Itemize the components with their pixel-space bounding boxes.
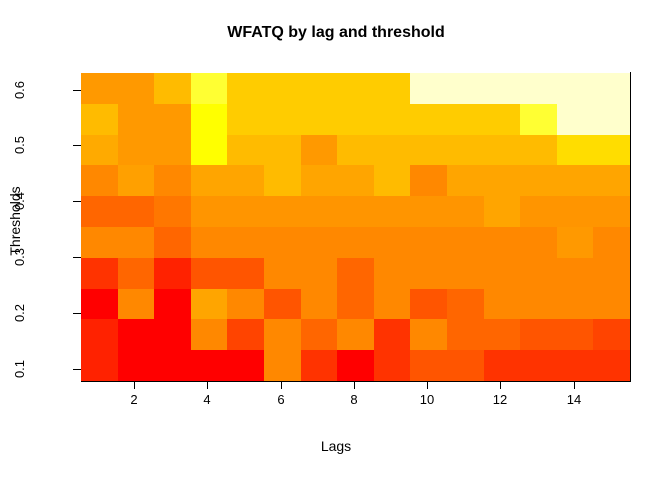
heatmap-cell: [301, 227, 338, 258]
heatmap-cell: [337, 73, 374, 104]
heatmap-cell: [227, 350, 264, 381]
heatmap-cell: [374, 227, 411, 258]
heatmap-cell: [118, 104, 155, 135]
heatmap-cell: [301, 73, 338, 104]
heatmap-cell: [484, 319, 521, 350]
heatmap-cell: [520, 258, 557, 289]
y-axis-line: [630, 72, 631, 382]
heatmap-cell: [520, 104, 557, 135]
heatmap-cell: [337, 165, 374, 196]
heatmap-cell: [484, 73, 521, 104]
y-tick-mark: [73, 145, 81, 146]
heatmap-cell: [484, 104, 521, 135]
heatmap-cell: [410, 196, 447, 227]
heatmap-cell: [374, 73, 411, 104]
heatmap-cell: [484, 227, 521, 258]
heatmap-cell: [593, 258, 630, 289]
x-tick-mark: [354, 382, 355, 389]
heatmap-cell: [484, 165, 521, 196]
y-tick-label: 0.1: [12, 319, 26, 419]
heatmap-cell: [593, 350, 630, 381]
heatmap-cell: [301, 135, 338, 166]
heatmap-cell: [484, 196, 521, 227]
heatmap-cell: [191, 165, 228, 196]
heatmap-cell: [557, 104, 594, 135]
heatmap-cell: [191, 258, 228, 289]
heatmap-cell: [557, 73, 594, 104]
heatmap-cell: [337, 289, 374, 320]
heatmap-cell: [520, 135, 557, 166]
x-tick-label: 8: [334, 392, 374, 407]
heatmap-grid: [81, 73, 630, 381]
heatmap-cell: [227, 165, 264, 196]
heatmap-cell: [301, 196, 338, 227]
heatmap-cell: [154, 104, 191, 135]
heatmap-cell: [593, 104, 630, 135]
heatmap-cell: [447, 227, 484, 258]
heatmap-cell: [154, 196, 191, 227]
heatmap-cell: [81, 289, 118, 320]
heatmap-cell: [264, 104, 301, 135]
heatmap-cell: [374, 196, 411, 227]
heatmap-cell: [593, 227, 630, 258]
heatmap-cell: [374, 104, 411, 135]
heatmap-cell: [191, 196, 228, 227]
heatmap-cell: [301, 104, 338, 135]
heatmap-cell: [191, 104, 228, 135]
heatmap-cell: [593, 196, 630, 227]
x-tick-mark: [574, 382, 575, 389]
heatmap-cell: [337, 227, 374, 258]
heatmap-cell: [154, 135, 191, 166]
heatmap-cell: [227, 258, 264, 289]
x-tick-mark: [427, 382, 428, 389]
heatmap-cell: [447, 104, 484, 135]
heatmap-cell: [484, 135, 521, 166]
heatmap-cell: [374, 135, 411, 166]
x-tick-label: 4: [187, 392, 227, 407]
heatmap-cell: [337, 104, 374, 135]
heatmap-cell: [118, 319, 155, 350]
heatmap-cell: [374, 289, 411, 320]
heatmap-cell: [410, 104, 447, 135]
heatmap-cell: [264, 227, 301, 258]
heatmap-cell: [191, 319, 228, 350]
heatmap-cell: [447, 319, 484, 350]
heatmap-cell: [557, 350, 594, 381]
heatmap-cell: [154, 289, 191, 320]
heatmap-cell: [81, 73, 118, 104]
heatmap-cell: [227, 135, 264, 166]
heatmap-cell: [520, 196, 557, 227]
heatmap-figure: WFATQ by lag and threshold 2468101214 0.…: [0, 0, 672, 480]
y-tick-mark: [73, 90, 81, 91]
y-tick-mark: [73, 313, 81, 314]
heatmap-cell: [374, 319, 411, 350]
heatmap-cell: [447, 289, 484, 320]
chart-title: WFATQ by lag and threshold: [0, 24, 672, 42]
heatmap-cell: [301, 289, 338, 320]
heatmap-cell: [191, 289, 228, 320]
heatmap-cell: [520, 350, 557, 381]
y-tick-mark: [73, 369, 81, 370]
heatmap-cell: [264, 73, 301, 104]
y-axis-title: Thresholds: [7, 186, 23, 255]
heatmap-cell: [337, 350, 374, 381]
x-tick-label: 10: [407, 392, 447, 407]
heatmap-cell: [410, 227, 447, 258]
heatmap-cell: [557, 196, 594, 227]
heatmap-cell: [520, 73, 557, 104]
heatmap-cell: [118, 165, 155, 196]
heatmap-cell: [520, 319, 557, 350]
x-axis-title: Lags: [0, 438, 672, 454]
heatmap-cell: [301, 319, 338, 350]
x-tick-label: 6: [261, 392, 301, 407]
heatmap-cell: [593, 135, 630, 166]
heatmap-cell: [410, 165, 447, 196]
heatmap-cell: [374, 350, 411, 381]
heatmap-cell: [447, 135, 484, 166]
heatmap-cell: [264, 165, 301, 196]
heatmap-cell: [520, 289, 557, 320]
heatmap-cell: [154, 319, 191, 350]
heatmap-cell: [227, 319, 264, 350]
heatmap-cell: [447, 350, 484, 381]
heatmap-cell: [593, 165, 630, 196]
heatmap-cell: [410, 319, 447, 350]
heatmap-cell: [264, 289, 301, 320]
heatmap-cell: [447, 165, 484, 196]
heatmap-cell: [227, 73, 264, 104]
heatmap-cell: [227, 289, 264, 320]
heatmap-cell: [118, 289, 155, 320]
heatmap-cell: [301, 165, 338, 196]
heatmap-cell: [410, 135, 447, 166]
heatmap-cell: [484, 350, 521, 381]
plot-panel: [81, 73, 630, 381]
x-tick-mark: [207, 382, 208, 389]
heatmap-cell: [154, 258, 191, 289]
heatmap-cell: [154, 165, 191, 196]
heatmap-cell: [337, 196, 374, 227]
heatmap-cell: [410, 350, 447, 381]
x-tick-mark: [134, 382, 135, 389]
x-tick-mark: [281, 382, 282, 389]
heatmap-cell: [118, 73, 155, 104]
heatmap-cell: [118, 135, 155, 166]
heatmap-cell: [374, 165, 411, 196]
heatmap-cell: [264, 196, 301, 227]
heatmap-cell: [301, 350, 338, 381]
heatmap-cell: [447, 73, 484, 104]
heatmap-cell: [484, 289, 521, 320]
heatmap-cell: [81, 196, 118, 227]
x-axis-line: [81, 381, 631, 382]
heatmap-cell: [520, 165, 557, 196]
heatmap-cell: [557, 289, 594, 320]
y-axis-title-container: Thresholds: [7, 121, 23, 321]
heatmap-cell: [593, 289, 630, 320]
heatmap-cell: [557, 165, 594, 196]
heatmap-cell: [118, 258, 155, 289]
heatmap-cell: [81, 258, 118, 289]
heatmap-cell: [118, 227, 155, 258]
heatmap-cell: [81, 319, 118, 350]
heatmap-cell: [118, 350, 155, 381]
heatmap-cell: [154, 73, 191, 104]
heatmap-cell: [191, 73, 228, 104]
heatmap-cell: [154, 227, 191, 258]
heatmap-cell: [264, 258, 301, 289]
heatmap-cell: [447, 196, 484, 227]
heatmap-cell: [410, 289, 447, 320]
heatmap-cell: [557, 135, 594, 166]
heatmap-cell: [227, 196, 264, 227]
heatmap-cell: [557, 227, 594, 258]
heatmap-cell: [447, 258, 484, 289]
heatmap-cell: [374, 258, 411, 289]
x-tick-label: 14: [554, 392, 594, 407]
heatmap-cell: [337, 135, 374, 166]
heatmap-cell: [191, 350, 228, 381]
heatmap-cell: [264, 350, 301, 381]
heatmap-cell: [557, 258, 594, 289]
heatmap-cell: [410, 73, 447, 104]
y-tick-mark: [73, 201, 81, 202]
heatmap-cell: [154, 350, 191, 381]
heatmap-cell: [337, 319, 374, 350]
heatmap-cell: [227, 104, 264, 135]
heatmap-cell: [337, 258, 374, 289]
heatmap-cell: [81, 165, 118, 196]
x-tick-mark: [500, 382, 501, 389]
heatmap-cell: [81, 104, 118, 135]
heatmap-cell: [593, 73, 630, 104]
heatmap-cell: [81, 350, 118, 381]
heatmap-cell: [191, 135, 228, 166]
heatmap-cell: [484, 258, 521, 289]
heatmap-cell: [520, 227, 557, 258]
heatmap-cell: [81, 135, 118, 166]
heatmap-cell: [593, 319, 630, 350]
heatmap-cell: [264, 319, 301, 350]
x-tick-label: 2: [114, 392, 154, 407]
heatmap-cell: [191, 227, 228, 258]
heatmap-cell: [264, 135, 301, 166]
y-tick-mark: [73, 257, 81, 258]
x-tick-label: 12: [480, 392, 520, 407]
heatmap-cell: [557, 319, 594, 350]
heatmap-cell: [227, 227, 264, 258]
heatmap-cell: [81, 227, 118, 258]
heatmap-cell: [118, 196, 155, 227]
heatmap-cell: [410, 258, 447, 289]
heatmap-cell: [301, 258, 338, 289]
